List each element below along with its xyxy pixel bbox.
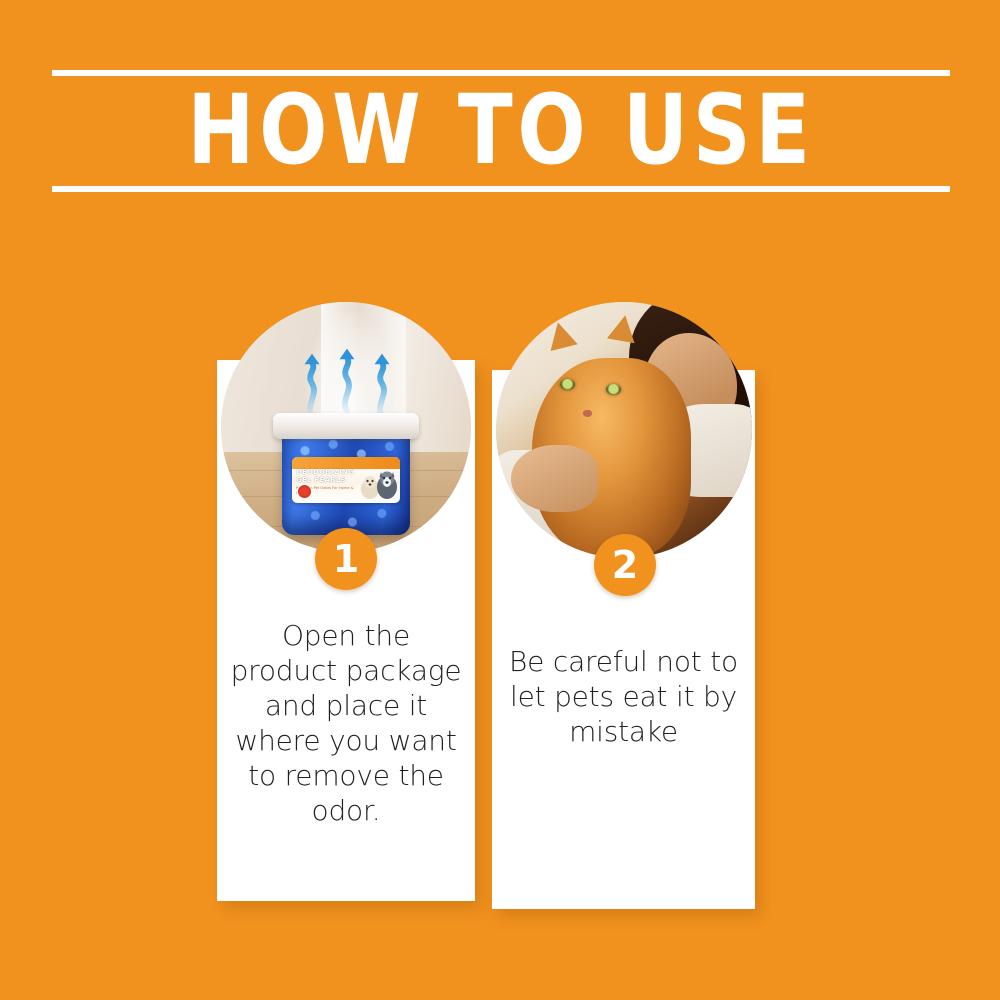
step-caption-2: Be careful not to let pets eat it by mis… bbox=[500, 644, 747, 749]
dogs-photo-icon bbox=[354, 465, 398, 501]
step-number-badge-2: 2 bbox=[594, 534, 656, 596]
step-card-2: 2 Be careful not to let pets eat it by m… bbox=[492, 370, 755, 909]
step-card-1: DEODORIZING GEL PEARLS Removes Pet Odors… bbox=[217, 360, 475, 901]
label-seal-icon bbox=[297, 484, 312, 499]
gel-pearls-scene: DEODORIZING GEL PEARLS Removes Pet Odors… bbox=[221, 302, 471, 552]
header-rule-bottom bbox=[52, 186, 950, 192]
step-number-badge-1: 1 bbox=[315, 528, 377, 590]
header: HOW TO USE bbox=[52, 70, 950, 192]
step-1-image: DEODORIZING GEL PEARLS Removes Pet Odors… bbox=[221, 302, 471, 552]
product-label: DEODORIZING GEL PEARLS Removes Pet Odors… bbox=[292, 457, 400, 503]
cat-hug-scene bbox=[496, 302, 752, 558]
page-title: HOW TO USE bbox=[83, 75, 918, 186]
person-arm bbox=[511, 445, 598, 512]
cat-nose bbox=[583, 410, 592, 417]
cat-eye-right bbox=[606, 384, 621, 395]
product-label-title: DEODORIZING GEL PEARLS bbox=[296, 468, 358, 484]
step-caption-1: Open the product package and place it wh… bbox=[225, 618, 467, 828]
cat-eye-left bbox=[560, 379, 575, 390]
jar-lid bbox=[273, 413, 419, 439]
cat-head bbox=[542, 338, 655, 446]
how-to-use-infographic: HOW TO USE bbox=[0, 0, 1000, 1000]
step-2-image bbox=[496, 302, 752, 558]
